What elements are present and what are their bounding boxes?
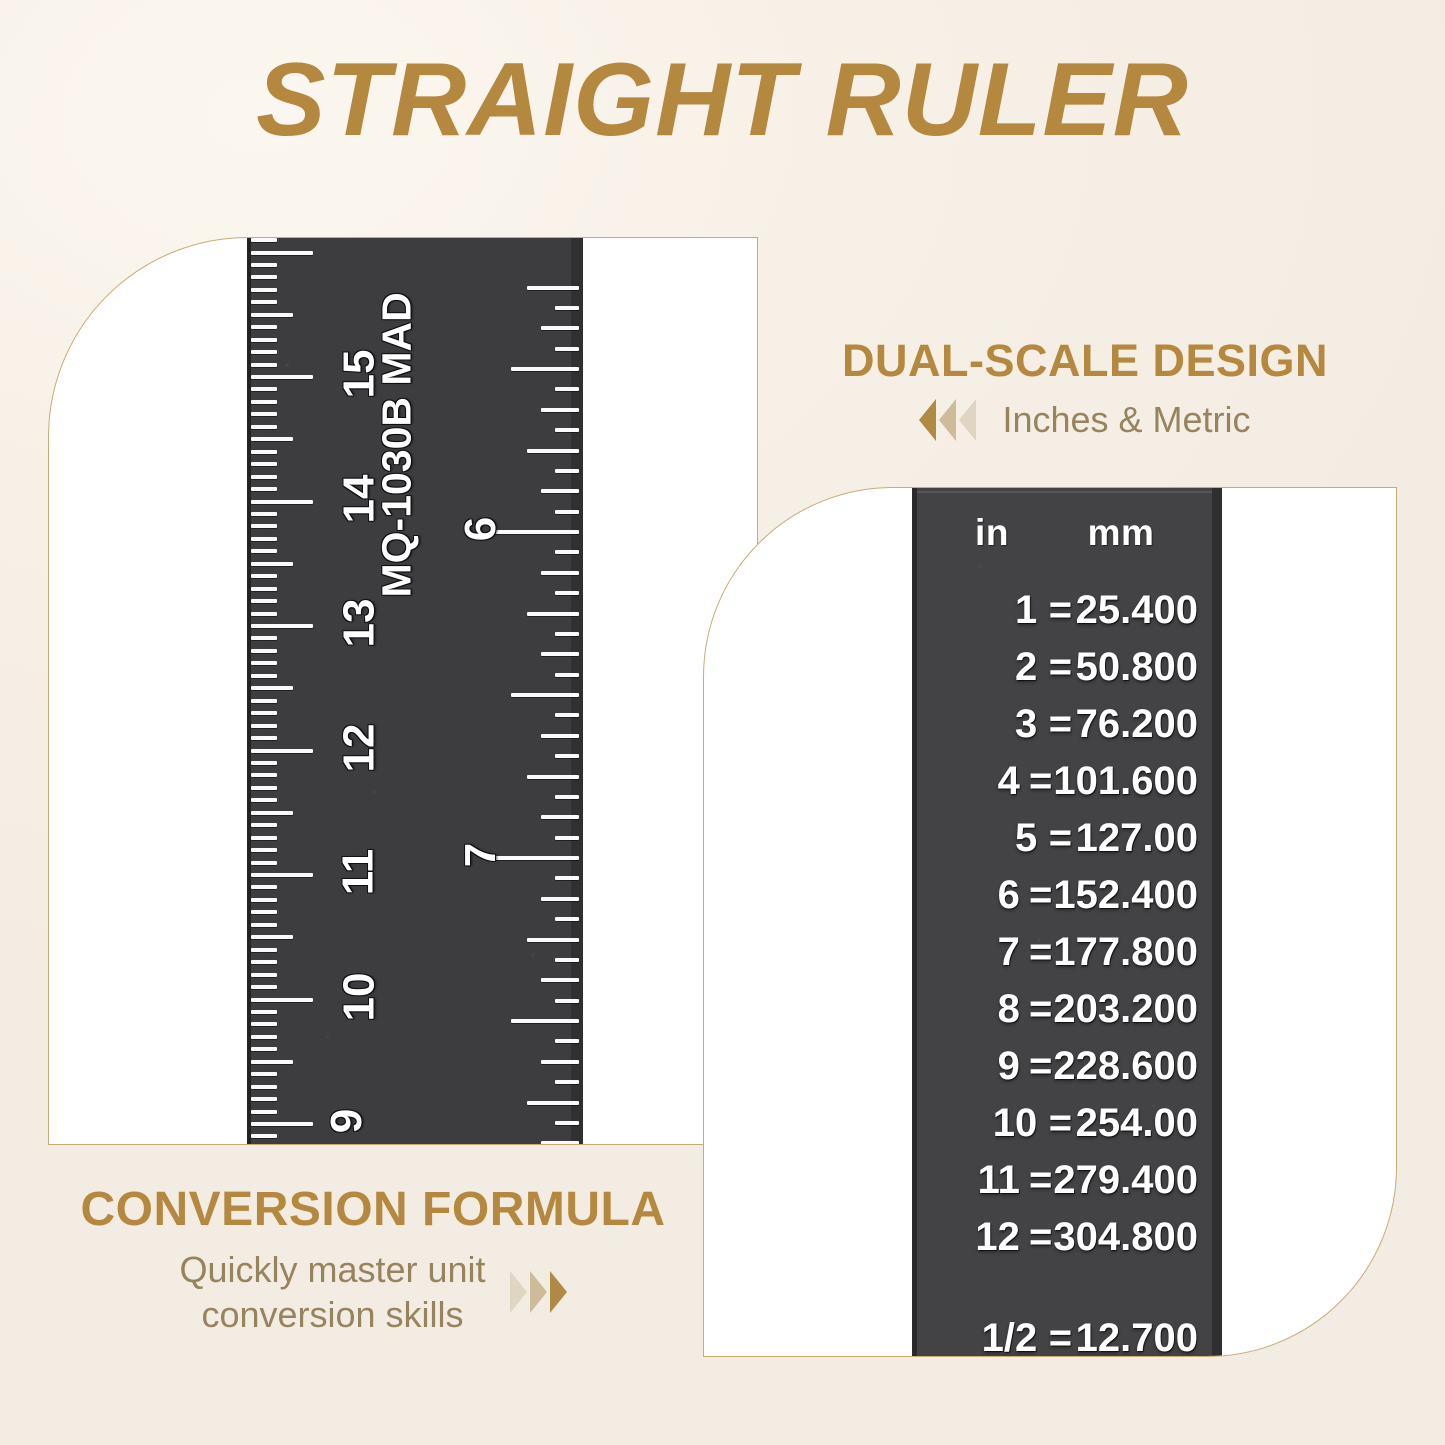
ruler-tick bbox=[541, 489, 579, 493]
conversion-mm-value: 254.00 bbox=[1076, 1103, 1204, 1143]
ruler-tick bbox=[541, 978, 579, 982]
conversion-in-value: 3 bbox=[930, 704, 1045, 744]
conversion-mm-value: 228.600 bbox=[1053, 1046, 1204, 1086]
ruler-tick bbox=[541, 1141, 579, 1144]
ruler-tick bbox=[555, 632, 579, 636]
ruler-tick bbox=[251, 661, 277, 665]
ruler-tick bbox=[541, 815, 579, 819]
ruler-tick bbox=[511, 693, 579, 697]
ruler-tick bbox=[251, 487, 277, 491]
ruler-tick bbox=[555, 1080, 579, 1084]
ruler-tick bbox=[251, 836, 277, 840]
conversion-row: 9=228.600 bbox=[930, 1046, 1204, 1103]
conversion-mm-value: 127.00 bbox=[1076, 818, 1204, 858]
conversion-equals: = bbox=[1028, 761, 1053, 801]
ruler-tick bbox=[251, 437, 293, 441]
ruler-tick bbox=[251, 587, 277, 591]
ruler-tick bbox=[251, 574, 277, 578]
ruler-tick bbox=[555, 428, 579, 432]
ruler-tick bbox=[251, 537, 277, 541]
conversion-in-value: 7 bbox=[930, 932, 1028, 972]
conversion-table-strip: in mm 1=25.4002=50.8003=76.2004=101.6005… bbox=[912, 488, 1222, 1357]
conversion-equals: = bbox=[1045, 1103, 1075, 1143]
ruler-tick bbox=[555, 387, 579, 391]
conversion-row: 10=254.00 bbox=[930, 1103, 1204, 1160]
ruler-tick bbox=[251, 1047, 277, 1051]
header-mm: mm bbox=[1046, 512, 1196, 554]
ruler-tick bbox=[251, 724, 277, 728]
conversion-mm-value: 50.800 bbox=[1076, 647, 1204, 687]
ruler-tick bbox=[527, 449, 579, 453]
ruler-tick bbox=[251, 973, 277, 977]
conversion-row: 4=101.600 bbox=[930, 761, 1204, 818]
ruler-tick bbox=[251, 686, 293, 690]
ruler-tick bbox=[555, 754, 579, 758]
conversion-row: 5=127.00 bbox=[930, 818, 1204, 875]
chevron-right-icon bbox=[510, 1271, 527, 1313]
ruler-tick bbox=[251, 512, 277, 516]
ruler-photo-card: 9101112131415678 MQ-1030B MAD bbox=[48, 237, 758, 1145]
conversion-formula-subtitle-line1: Quickly master unit bbox=[179, 1249, 485, 1290]
ruler-tick bbox=[251, 998, 313, 1002]
ruler-tick bbox=[541, 897, 579, 901]
chevron-left-icon bbox=[919, 399, 936, 441]
ruler-tick bbox=[251, 873, 313, 877]
conversion-mm-value: 279.400 bbox=[1053, 1160, 1204, 1200]
dual-scale-title: DUAL-SCALE DESIGN bbox=[745, 335, 1425, 387]
dual-scale-subtitle: Inches & Metric bbox=[1002, 399, 1250, 441]
ruler-tick bbox=[251, 773, 277, 777]
ruler-tick bbox=[251, 848, 277, 852]
ruler-tick bbox=[251, 624, 313, 628]
ruler-tick bbox=[527, 612, 579, 616]
ruler-tick bbox=[251, 350, 277, 354]
ruler-tick bbox=[555, 469, 579, 473]
conversion-mm-value: 101.600 bbox=[1053, 761, 1204, 801]
ruler-tick bbox=[527, 1101, 579, 1105]
ruler-tick bbox=[251, 910, 277, 914]
conversion-mm-value: 203.200 bbox=[1053, 989, 1204, 1029]
ruler-tick bbox=[555, 510, 579, 514]
conversion-mm-value: 25.400 bbox=[1076, 590, 1204, 630]
ruler-tick bbox=[251, 375, 313, 379]
conversion-table-card: in mm 1=25.4002=50.8003=76.2004=101.6005… bbox=[703, 487, 1397, 1357]
ruler-tick bbox=[251, 251, 313, 255]
ruler-metric-number: 11 bbox=[333, 849, 383, 896]
conversion-formula-title: CONVERSION FORMULA bbox=[28, 1182, 718, 1237]
chevron-right-icon bbox=[530, 1271, 547, 1313]
ruler-imperial-number: 7 bbox=[456, 843, 506, 867]
ruler-tick bbox=[251, 562, 293, 566]
ruler-tick bbox=[251, 425, 277, 429]
ruler-tick bbox=[251, 263, 277, 267]
conversion-row: 7=177.800 bbox=[930, 932, 1204, 989]
ruler-tick bbox=[251, 524, 277, 528]
ruler-tick bbox=[251, 1022, 277, 1026]
ruler-tick bbox=[251, 798, 277, 802]
ruler-tick bbox=[251, 387, 277, 391]
conversion-mm-value: 76.200 bbox=[1076, 704, 1204, 744]
ruler-tick bbox=[251, 275, 277, 279]
ruler-tick bbox=[251, 338, 277, 342]
ruler-tick bbox=[251, 1097, 277, 1101]
conversion-in-value: 2 bbox=[930, 647, 1045, 687]
conversion-row: 2=50.800 bbox=[930, 647, 1204, 704]
conversion-formula-heading-block: CONVERSION FORMULA Quickly master unit c… bbox=[28, 1182, 718, 1337]
conversion-equals: = bbox=[1045, 1318, 1075, 1357]
conversion-equals: = bbox=[1045, 818, 1075, 858]
ruler-tick bbox=[251, 599, 277, 603]
chevron-left-group bbox=[919, 399, 976, 441]
ruler-tick bbox=[555, 550, 579, 554]
ruler-tick bbox=[251, 985, 277, 989]
conversion-mm-value: 304.800 bbox=[1053, 1217, 1204, 1257]
conversion-row: 3=76.200 bbox=[930, 704, 1204, 761]
ruler-tick bbox=[541, 1060, 579, 1064]
ruler-tick bbox=[251, 1035, 277, 1039]
ruler-tick bbox=[251, 898, 277, 902]
ruler-tick bbox=[251, 674, 277, 678]
conversion-row: 1=25.400 bbox=[930, 590, 1204, 647]
ruler-tick bbox=[251, 288, 277, 292]
ruler-tick bbox=[251, 325, 277, 329]
infographic-canvas: STRAIGHT RULER 9101112131415678 MQ-1030B… bbox=[0, 0, 1445, 1445]
chevron-left-icon bbox=[959, 399, 976, 441]
ruler-tick bbox=[251, 238, 277, 242]
conversion-in-value: 8 bbox=[930, 989, 1028, 1029]
ruler-tick bbox=[251, 549, 277, 553]
conversion-equals: = bbox=[1028, 875, 1053, 915]
conversion-equals: = bbox=[1045, 704, 1075, 744]
ruler-tick bbox=[555, 1121, 579, 1125]
conversion-equals: = bbox=[1028, 1046, 1053, 1086]
conversion-table-header: in mm bbox=[912, 506, 1222, 554]
ruler-tick bbox=[251, 885, 277, 889]
ruler-tick bbox=[251, 1010, 277, 1014]
ruler-tick bbox=[541, 326, 579, 330]
ruler-tick bbox=[555, 958, 579, 962]
conversion-in-value: 1/2 bbox=[930, 1318, 1045, 1357]
ruler-tick bbox=[251, 1072, 277, 1076]
ruler-tick bbox=[555, 795, 579, 799]
ruler-tick bbox=[251, 475, 277, 479]
conversion-equals: = bbox=[1045, 590, 1075, 630]
ruler-tick bbox=[251, 736, 277, 740]
conversion-in-value: 6 bbox=[930, 875, 1028, 915]
ruler-tick bbox=[555, 306, 579, 310]
conversion-equals: = bbox=[1045, 647, 1075, 687]
ruler-tick bbox=[251, 1110, 277, 1114]
ruler-tick bbox=[251, 612, 277, 616]
ruler-tick bbox=[251, 412, 277, 416]
conversion-equals: = bbox=[1028, 1217, 1053, 1257]
dual-scale-subtitle-row: Inches & Metric bbox=[745, 399, 1425, 441]
ruler-metric-number: 13 bbox=[334, 599, 384, 648]
page-title: STRAIGHT RULER bbox=[0, 46, 1445, 155]
ruler-tick bbox=[251, 649, 277, 653]
ruler-photo: 9101112131415678 MQ-1030B MAD bbox=[49, 238, 757, 1144]
conversion-in-value: 4 bbox=[930, 761, 1028, 801]
strip-top-highlight bbox=[917, 491, 1212, 493]
conversion-formula-subtitle-line2: conversion skills bbox=[201, 1294, 463, 1335]
conversion-row: 1/2=12.700 bbox=[930, 1318, 1204, 1357]
conversion-equals: = bbox=[1028, 1160, 1053, 1200]
ruler-tick bbox=[251, 363, 277, 367]
imperial-tick-scale bbox=[419, 238, 579, 1144]
conversion-in-value: 12 bbox=[930, 1217, 1028, 1257]
ruler-tick bbox=[251, 923, 277, 927]
conversion-equals: = bbox=[1028, 932, 1053, 972]
conversion-in-value: 11 bbox=[930, 1160, 1028, 1200]
conversion-row: 8=203.200 bbox=[930, 989, 1204, 1046]
ruler-tick bbox=[251, 300, 277, 304]
ruler-tick bbox=[251, 1085, 277, 1089]
ruler-tick bbox=[541, 408, 579, 412]
ruler-tick bbox=[541, 734, 579, 738]
ruler-tick bbox=[555, 591, 579, 595]
ruler-tick bbox=[251, 500, 313, 504]
ruler-imperial-number: 6 bbox=[456, 517, 506, 541]
conversion-row: 11=279.400 bbox=[930, 1160, 1204, 1217]
ruler-tick bbox=[555, 347, 579, 351]
ruler-tick bbox=[251, 935, 293, 939]
ruler-body: 9101112131415678 MQ-1030B MAD bbox=[247, 238, 583, 1144]
conversion-in-value: 1 bbox=[930, 590, 1045, 630]
dual-scale-heading-block: DUAL-SCALE DESIGN Inches & Metric bbox=[745, 335, 1425, 441]
header-in: in bbox=[938, 512, 1046, 554]
conversion-in-value: 9 bbox=[930, 1046, 1028, 1086]
chevron-right-group bbox=[510, 1271, 567, 1313]
ruler-tick bbox=[251, 1122, 313, 1126]
ruler-tick bbox=[527, 286, 579, 290]
ruler-metric-number: 10 bbox=[334, 972, 384, 1021]
conversion-equals: = bbox=[1028, 989, 1053, 1029]
ruler-tick bbox=[555, 673, 579, 677]
ruler-tick bbox=[251, 450, 277, 454]
conversion-mm-value: 177.800 bbox=[1053, 932, 1204, 972]
ruler-tick bbox=[251, 948, 277, 952]
ruler-tick bbox=[541, 652, 579, 656]
conversion-formula-subtitle-row: Quickly master unit conversion skills bbox=[28, 1247, 718, 1337]
ruler-tick bbox=[555, 836, 579, 840]
ruler-tick bbox=[251, 1134, 277, 1138]
conversion-row: 12=304.800 bbox=[930, 1217, 1204, 1274]
ruler-tick bbox=[511, 367, 579, 371]
conversion-mm-value: 152.400 bbox=[1053, 875, 1204, 915]
ruler-tick bbox=[251, 823, 277, 827]
ruler-tick bbox=[555, 713, 579, 717]
ruler-metric-number: 12 bbox=[334, 723, 384, 772]
ruler-tick bbox=[555, 876, 579, 880]
conversion-formula-subtitle: Quickly master unit conversion skills bbox=[179, 1247, 485, 1337]
conversion-row: 6=152.400 bbox=[930, 875, 1204, 932]
conversion-in-value: 10 bbox=[930, 1103, 1045, 1143]
conversion-in-value: 5 bbox=[930, 818, 1045, 858]
ruler-tick bbox=[251, 861, 277, 865]
conversion-row-gap bbox=[930, 1274, 1204, 1318]
ruler-tick bbox=[555, 999, 579, 1003]
ruler-tick bbox=[251, 462, 277, 466]
ruler-tick bbox=[527, 938, 579, 942]
ruler-tick bbox=[251, 786, 277, 790]
ruler-tick bbox=[251, 811, 293, 815]
ruler-tick bbox=[251, 313, 293, 317]
ruler-tick bbox=[251, 711, 277, 715]
ruler-tick bbox=[251, 960, 277, 964]
ruler-tick bbox=[527, 775, 579, 779]
chevron-left-icon bbox=[939, 399, 956, 441]
ruler-tick bbox=[555, 1039, 579, 1043]
ruler-tick bbox=[251, 699, 277, 703]
chevron-right-icon bbox=[550, 1271, 567, 1313]
ruler-tick bbox=[541, 571, 579, 575]
ruler-tick bbox=[251, 749, 313, 753]
conversion-mm-value: 12.700 bbox=[1076, 1318, 1204, 1357]
conversion-row-list: 1=25.4002=50.8003=76.2004=101.6005=127.0… bbox=[912, 590, 1222, 1357]
ruler-tick bbox=[251, 1060, 293, 1064]
ruler-tick bbox=[251, 636, 277, 640]
ruler-tick bbox=[555, 917, 579, 921]
ruler-tick bbox=[251, 761, 277, 765]
ruler-metric-number: 9 bbox=[322, 1109, 372, 1133]
ruler-tick bbox=[251, 400, 277, 404]
ruler-tick bbox=[511, 1019, 579, 1023]
